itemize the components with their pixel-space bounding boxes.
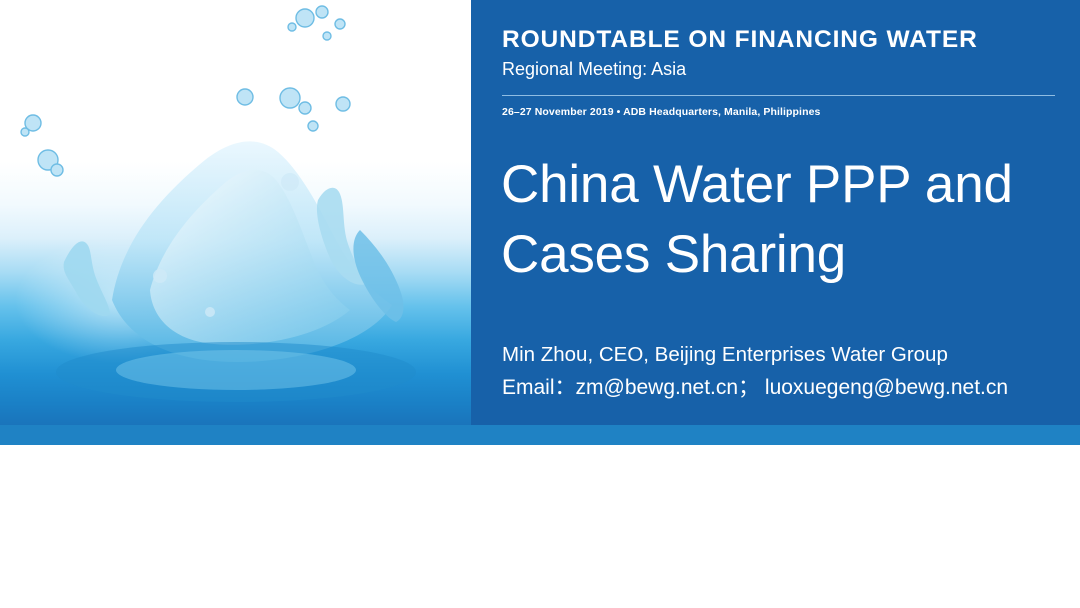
- page-title-line-1: China Water PPP and: [501, 150, 1076, 220]
- page-title: China Water PPP and Cases Sharing: [501, 150, 1076, 291]
- email-line: Email：zm@bewg.net.cn； luoxuegeng@bewg.ne…: [502, 377, 1077, 398]
- accent-band: [0, 425, 1080, 445]
- water-splash-photo: [0, 0, 471, 425]
- presentation-title-slide: ROUNDTABLE ON FINANCING WATER Regional M…: [0, 0, 1080, 608]
- divider-rule: [502, 95, 1055, 96]
- presenter-line: Min Zhou, CEO, Beijing Enterprises Water…: [502, 345, 1077, 366]
- title-panel: ROUNDTABLE ON FINANCING WATER Regional M…: [471, 0, 1080, 425]
- page-title-line-2: Cases Sharing: [501, 220, 1076, 290]
- hero-area: ROUNDTABLE ON FINANCING WATER Regional M…: [0, 0, 1080, 425]
- water-splash-illustration: [0, 0, 471, 425]
- sponsor-logo-bar: ADB: [0, 445, 1080, 608]
- event-title: ROUNDTABLE ON FINANCING WATER: [502, 27, 1062, 54]
- event-subtitle: Regional Meeting: Asia: [502, 60, 1062, 80]
- event-dateline: 26–27 November 2019 • ADB Headquarters, …: [502, 106, 1062, 118]
